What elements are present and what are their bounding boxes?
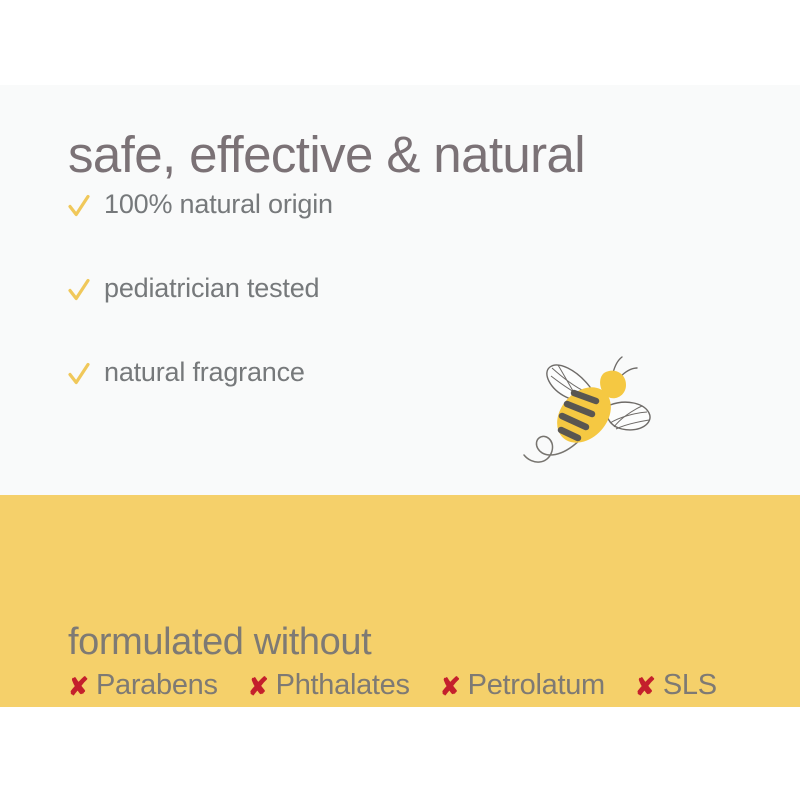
- benefit-item: pediatrician tested: [68, 272, 538, 356]
- benefit-item: 100% natural origin: [68, 188, 538, 272]
- benefit-label: pediatrician tested: [104, 272, 319, 304]
- excluded-list: ✘ Parabens ✘ Phthalates ✘ Petrolatum ✘ S…: [68, 670, 717, 702]
- excluded-label: SLS: [663, 670, 717, 702]
- check-icon: [68, 277, 90, 303]
- benefit-label: 100% natural origin: [104, 188, 333, 220]
- excluded-heading: formulated without: [68, 620, 371, 666]
- excluded-item: ✘ Phthalates: [248, 670, 410, 702]
- x-icon: ✘: [635, 675, 656, 700]
- product-benefits-page: safe, effective & natural 100% natural o…: [0, 0, 800, 800]
- benefits-list: 100% natural origin pediatrician tested …: [68, 188, 538, 440]
- x-icon: ✘: [68, 675, 89, 700]
- excluded-label: Phthalates: [276, 670, 410, 702]
- benefit-item: natural fragrance: [68, 356, 538, 440]
- excluded-panel: formulated without ✘ Parabens ✘ Phthalat…: [0, 495, 800, 707]
- excluded-label: Petrolatum: [468, 670, 605, 702]
- excluded-label: Parabens: [96, 670, 218, 702]
- benefits-heading: safe, effective & natural: [68, 125, 585, 185]
- bee-icon: [518, 343, 678, 473]
- check-icon: [68, 361, 90, 387]
- benefits-panel: safe, effective & natural 100% natural o…: [0, 85, 800, 495]
- x-icon: ✘: [440, 675, 461, 700]
- benefit-label: natural fragrance: [104, 356, 305, 388]
- excluded-item: ✘ SLS: [635, 670, 717, 702]
- x-icon: ✘: [248, 675, 269, 700]
- excluded-item: ✘ Parabens: [68, 670, 218, 702]
- excluded-item: ✘ Petrolatum: [440, 670, 605, 702]
- check-icon: [68, 193, 90, 219]
